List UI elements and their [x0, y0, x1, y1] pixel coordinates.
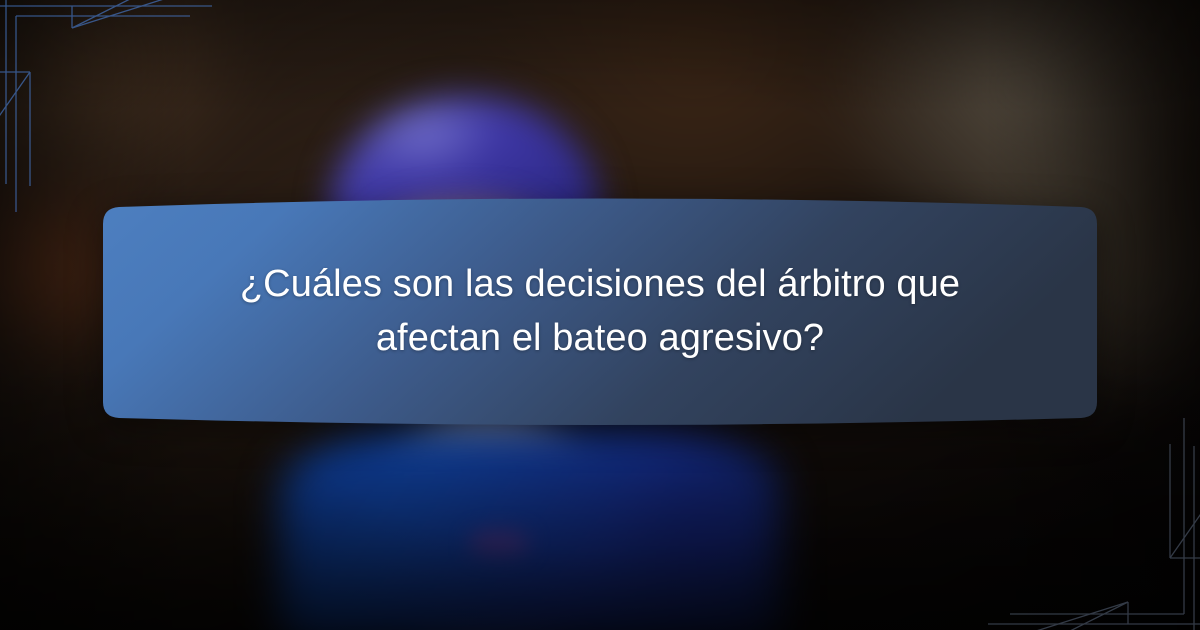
question-text-container: ¿Cuáles son las decisiones del árbitro q…	[100, 196, 1100, 428]
question-text: ¿Cuáles son las decisiones del árbitro q…	[230, 258, 970, 366]
question-card: ¿Cuáles son las decisiones del árbitro q…	[100, 196, 1100, 428]
question-card-banner: ¿Cuáles son las decisiones del árbitro q…	[0, 0, 1200, 630]
